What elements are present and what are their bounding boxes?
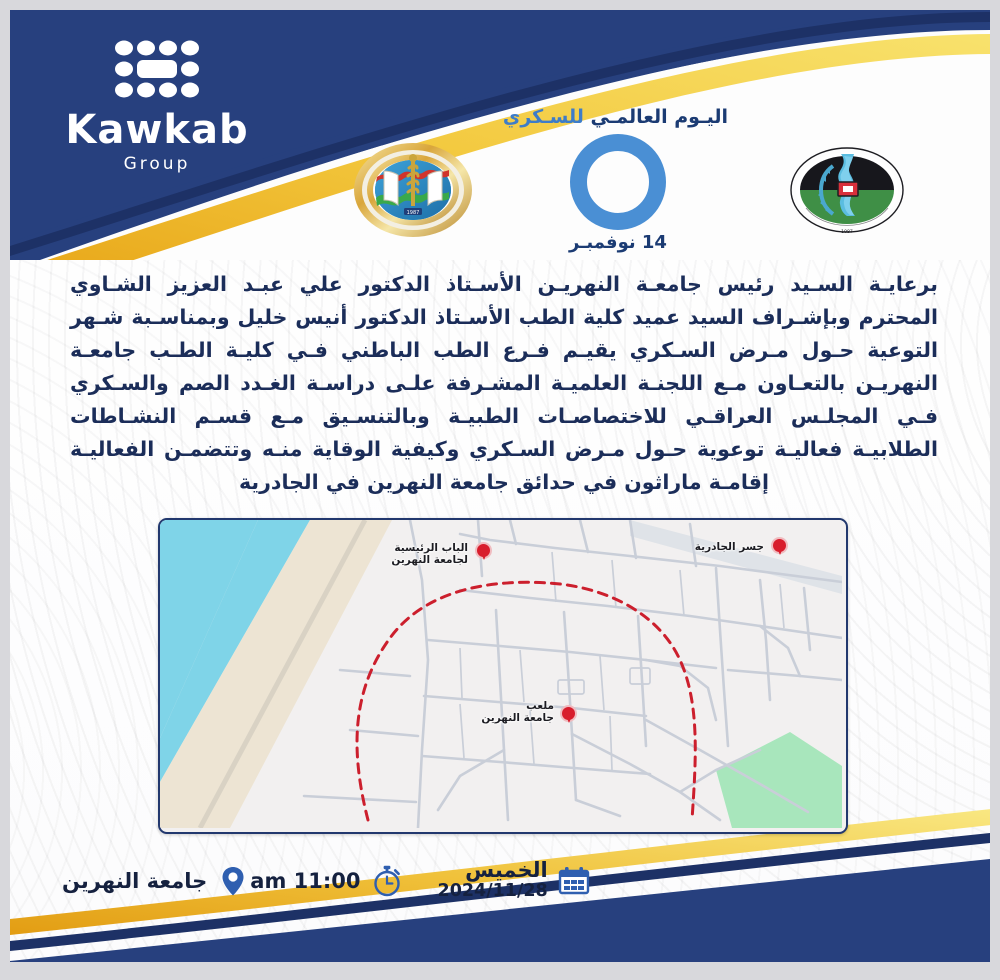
kawkab-dots-icon [111,38,203,100]
info-location-text: جامعة النهرين [62,871,207,892]
event-description-paragraph: برعايـة السـيد رئيس جامعـة النهريـن الأس… [70,268,938,499]
kawkab-logo: Kawkab Group [62,38,252,174]
map-label-stadium-line1: ملعب [526,700,554,712]
campaign-title-light: للسـكري [503,106,584,128]
campaign-title-main: اليـوم العالمـي [591,106,728,128]
info-date-text: الخميس 2024/11/28 [438,860,548,902]
campaign-date: 14 نوفمبـر [508,232,728,253]
marker-pin-icon [771,537,788,554]
info-location: جامعة النهرين [62,864,250,898]
map-label-main-gate-line2: لجامعة النهرين [391,554,468,566]
iraqi-board-medical-specializations-emblem: 1987 [352,138,474,242]
map-label-stadium-line2: جامعة النهرين [481,712,554,724]
map-label-jadriya-bridge: جسر الجادرية [668,541,764,553]
map-marker-main-gate[interactable] [475,542,492,559]
route-map[interactable]: الباب الرئيسية لجامعة النهرين جسر الجادر… [158,518,848,834]
map-label-jadriya-bridge-line1: جسر الجادرية [695,541,764,553]
info-date-value: 2024/11/28 [438,881,548,902]
kawkab-logo-sub: Group [62,154,252,174]
map-label-main-gate: الباب الرئيسية لجامعة النهرين [356,542,468,566]
map-label-stadium: ملعب جامعة النهرين [456,700,554,724]
info-date-day: الخميس [465,858,548,882]
world-diabetes-day-block: اليـوم العالمـي للسـكري 14 نوفمبـر [508,106,728,253]
map-canvas [160,520,842,828]
marker-pin-icon [560,705,577,722]
poster-canvas: Kawkab Group اليـوم العالمـي للسـكري 14 … [10,10,990,962]
info-time-text: 11:00 am [250,871,360,892]
calendar-icon [557,864,591,898]
al-nahrain-university-emblem: 1987 [786,138,908,242]
campaign-title: اليـوم العالمـي للسـكري [508,106,728,128]
event-info-bar: جامعة النهرين 11:00 am [10,858,990,904]
blue-circle-diabetes-symbol [570,134,666,230]
info-time: 11:00 am [250,864,403,898]
map-marker-stadium[interactable] [560,705,577,722]
stopwatch-icon [370,864,404,898]
svg-text:1987: 1987 [841,229,853,235]
map-label-main-gate-line1: الباب الرئيسية [394,542,468,554]
info-date: الخميس 2024/11/28 [438,860,591,902]
location-pin-icon [216,864,250,898]
map-marker-jadriya-bridge[interactable] [771,537,788,554]
svg-text:1987: 1987 [407,210,420,216]
kawkab-logo-name: Kawkab [62,110,252,150]
marker-pin-icon [475,542,492,559]
